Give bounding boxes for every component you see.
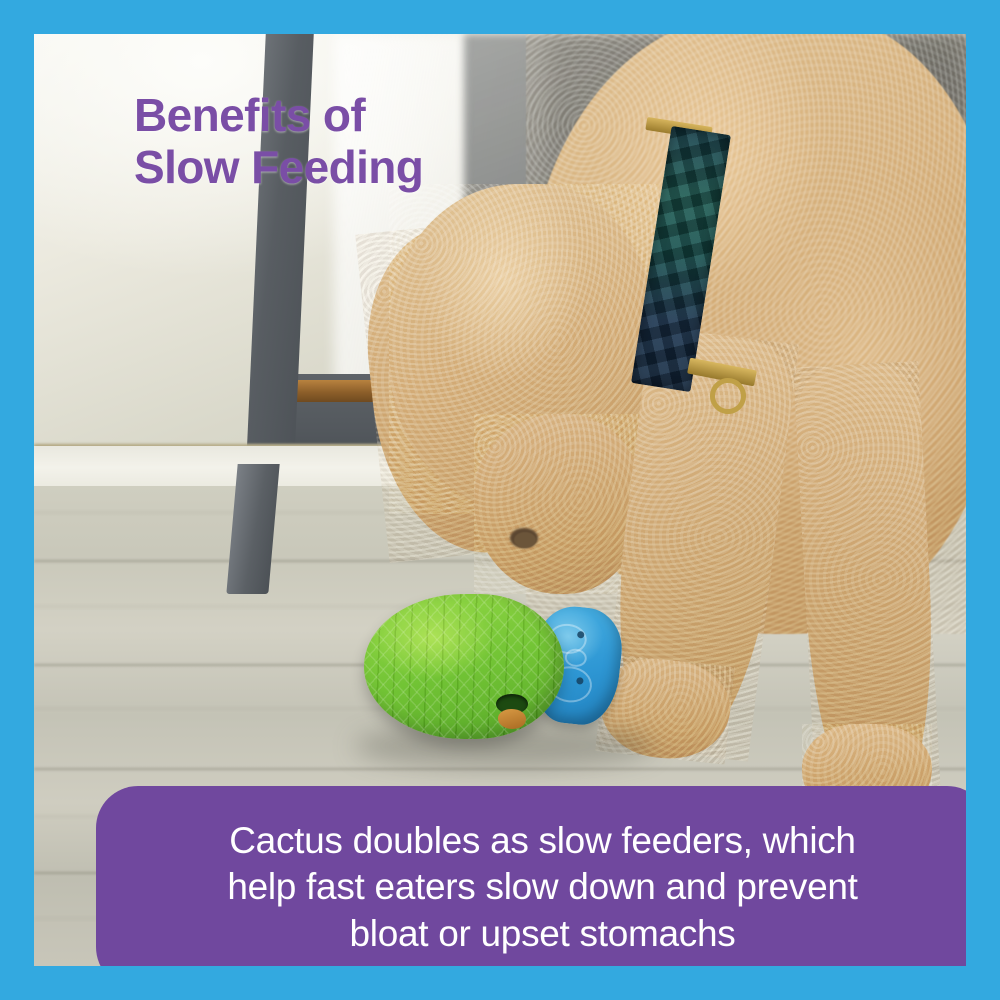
dog-muzzle (474, 414, 644, 594)
cactus-toy (364, 594, 564, 739)
caption-card: Cactus doubles as slow feeders, which he… (96, 786, 966, 966)
caption-text: Cactus doubles as slow feeders, which he… (227, 818, 857, 957)
page-title: Benefits of Slow Feeding (134, 90, 423, 194)
toy-treat (498, 709, 526, 729)
floor-treat (514, 532, 536, 548)
banner-canvas: Benefits of Slow Feeding Cactus doubles … (0, 0, 1000, 1000)
product-photo: Benefits of Slow Feeding Cactus doubles … (34, 34, 966, 966)
